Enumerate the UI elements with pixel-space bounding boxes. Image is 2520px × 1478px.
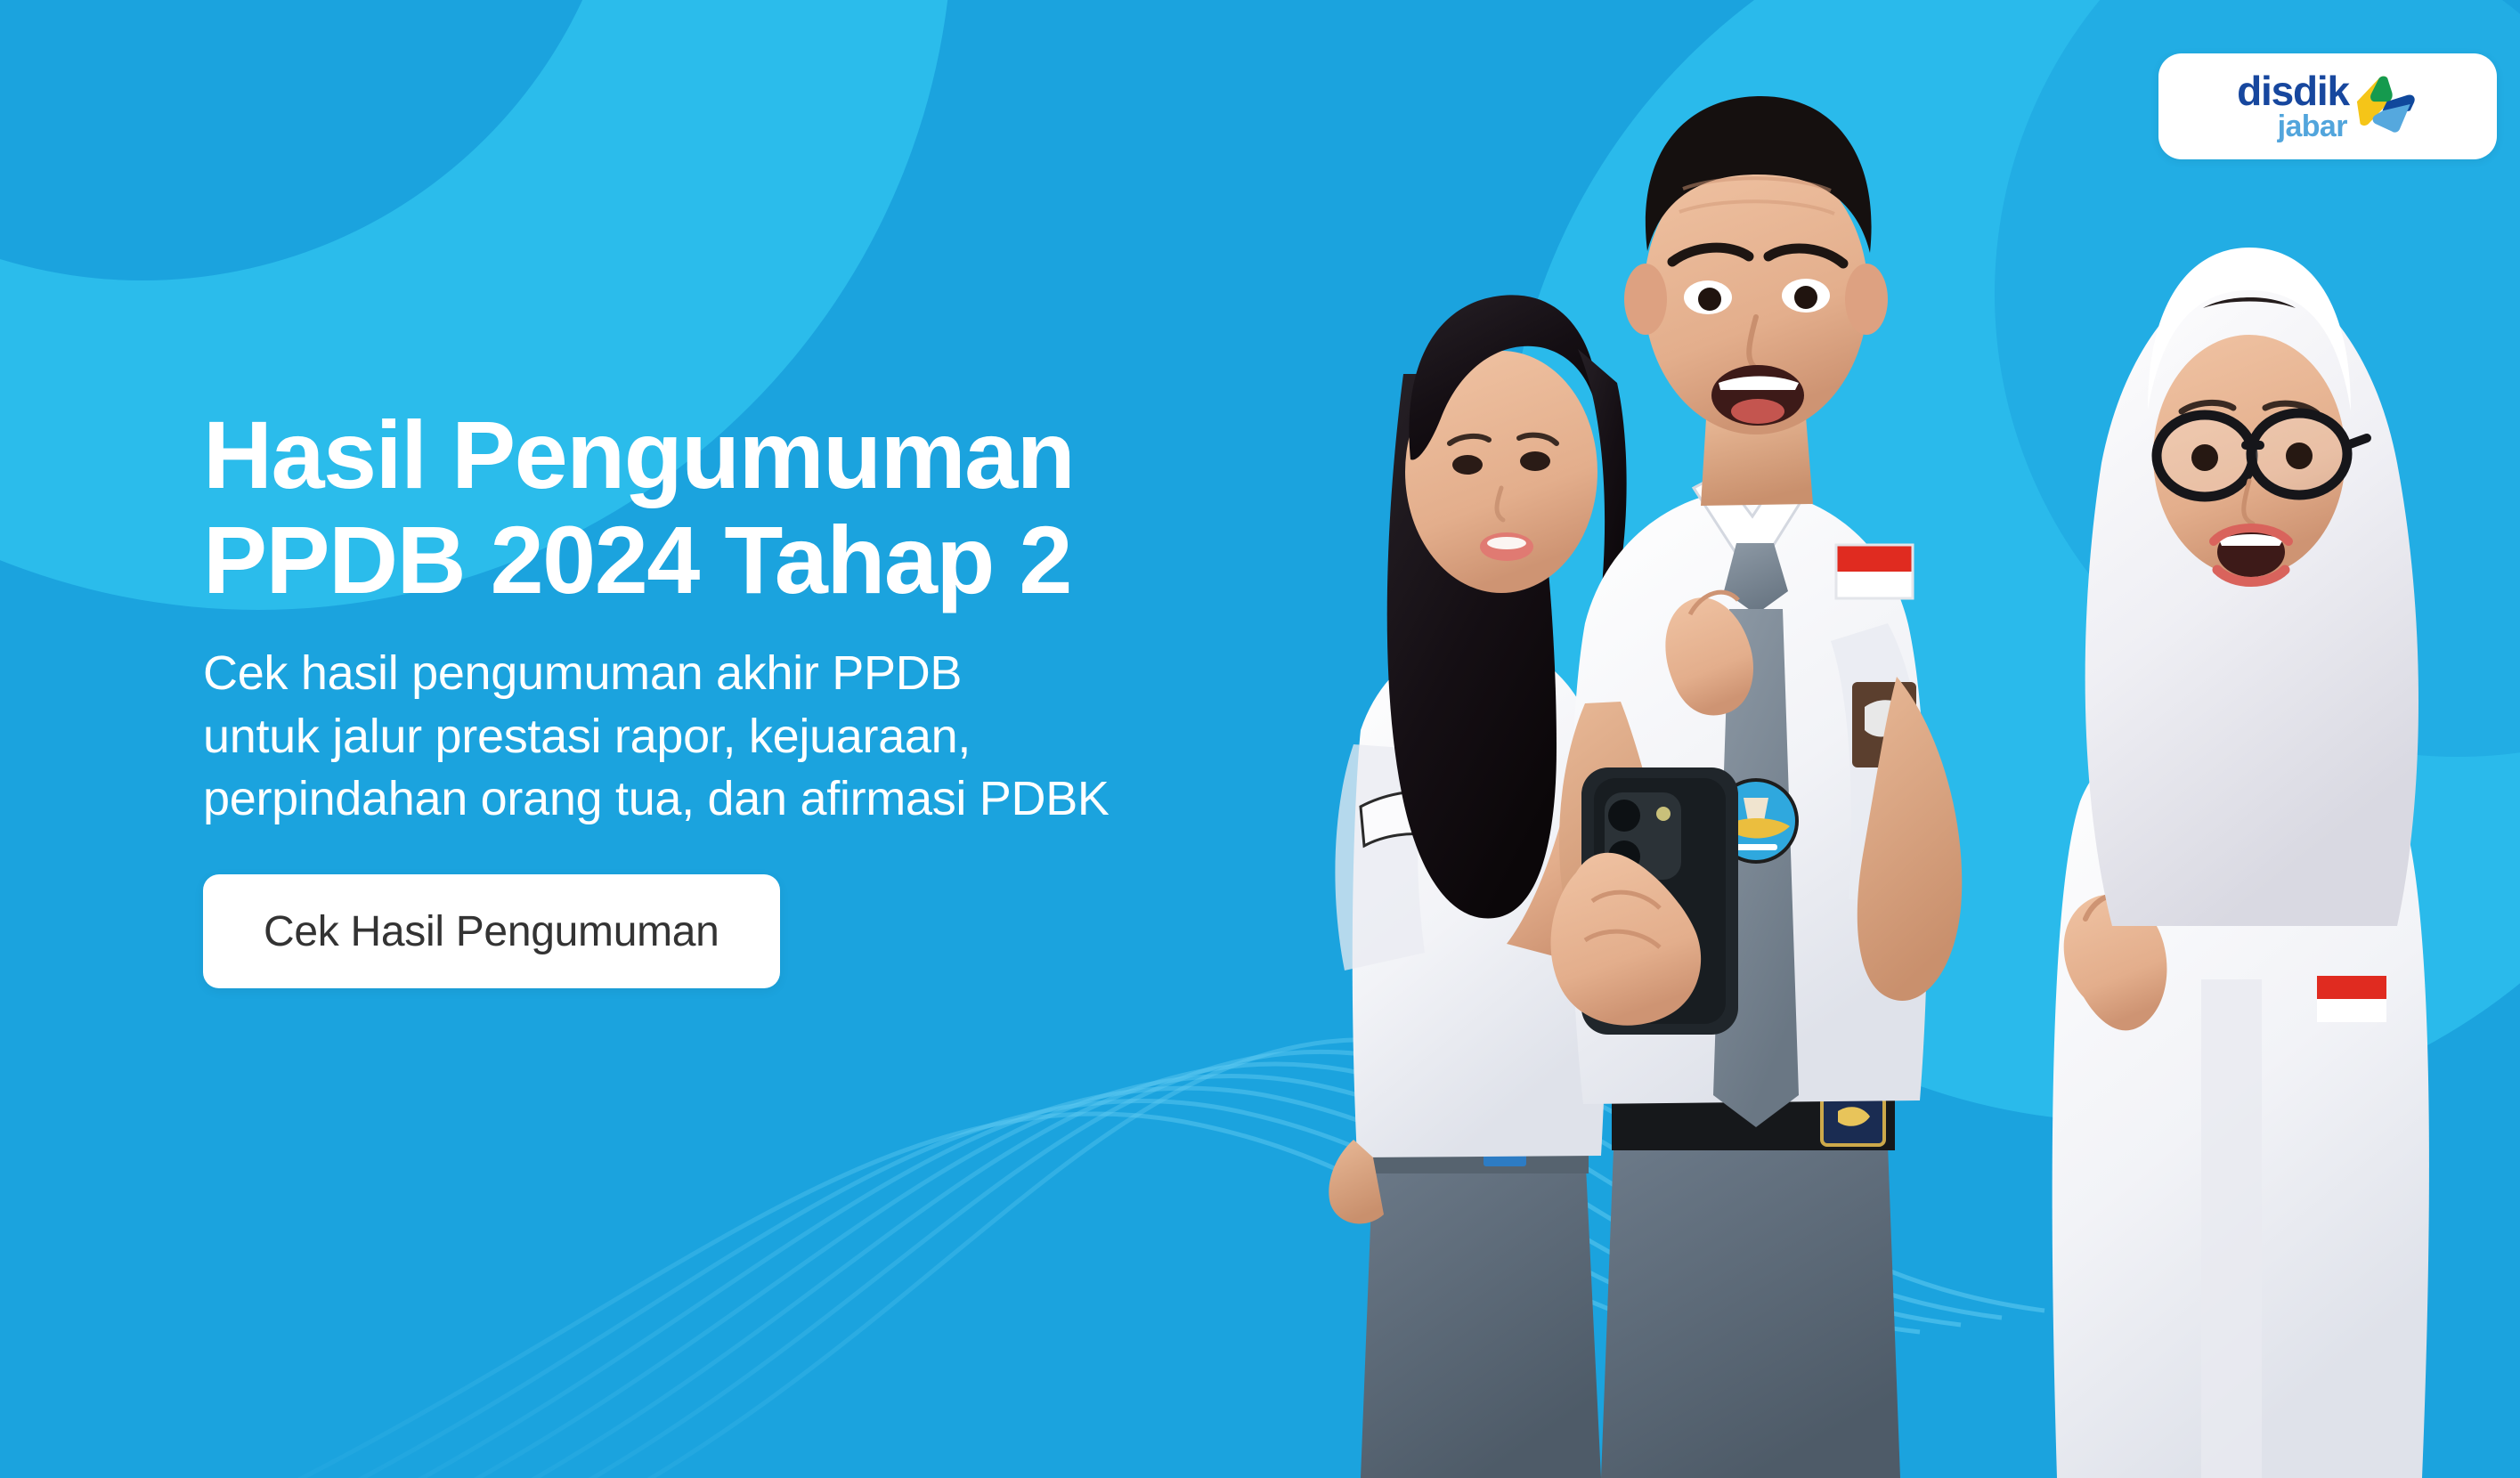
logo-disdik-text: disdik [2237,72,2349,111]
logo-inner: disdik jabar [2237,72,2418,141]
disdik-book-mark-icon [2353,73,2418,135]
disdik-jabar-logo-card[interactable]: disdik jabar [2158,53,2497,159]
boy-tie-emblem-book [1735,844,1777,850]
decor-circle-top-left-dark [0,0,628,280]
left-girl-eye-right [1520,451,1550,471]
hero-subtitle: Cek hasil pengumuman akhir PPDB untuk ja… [203,642,1467,830]
cek-hasil-pengumuman-button[interactable]: Cek Hasil Pengumuman [203,874,780,988]
right-girl-glasses [2157,413,2367,497]
right-girl-placket [2201,979,2262,1478]
left-girl-skirt [1361,1149,1601,1478]
student-right-girl [2053,248,2429,1478]
boy-trousers [1601,1145,1900,1478]
right-girl-pupil-right [2286,443,2313,469]
students-photo [1318,0,2520,1478]
boy-pupil-left [1698,288,1721,311]
right-girl-pupil-left [2191,444,2218,471]
boy-tongue [1731,399,1784,424]
right-girl-flag-patch [2317,976,2386,1022]
boy-phone-flash [1656,807,1671,821]
logo-jabar-text: jabar [2278,112,2347,141]
hero-copy: Hasil Pengumuman PPDB 2024 Tahap 2 Cek h… [203,402,1467,988]
students-illustration-svg [1318,0,2520,1478]
page-title: Hasil Pengumuman PPDB 2024 Tahap 2 [203,402,1467,612]
student-center-boy [1551,96,1963,1478]
logo-wordmark: disdik jabar [2237,72,2349,141]
banner-root: disdik jabar Hasil Pengumuman PPDB 2024 … [0,0,2520,1478]
boy-ear-right [1845,264,1888,335]
boy-pupil-right [1794,286,1817,309]
boy-ear-left [1624,264,1667,335]
left-girl-teeth [1487,537,1526,549]
boy-flag-patch [1836,545,1913,598]
boy-phone-camera-1 [1608,800,1640,832]
